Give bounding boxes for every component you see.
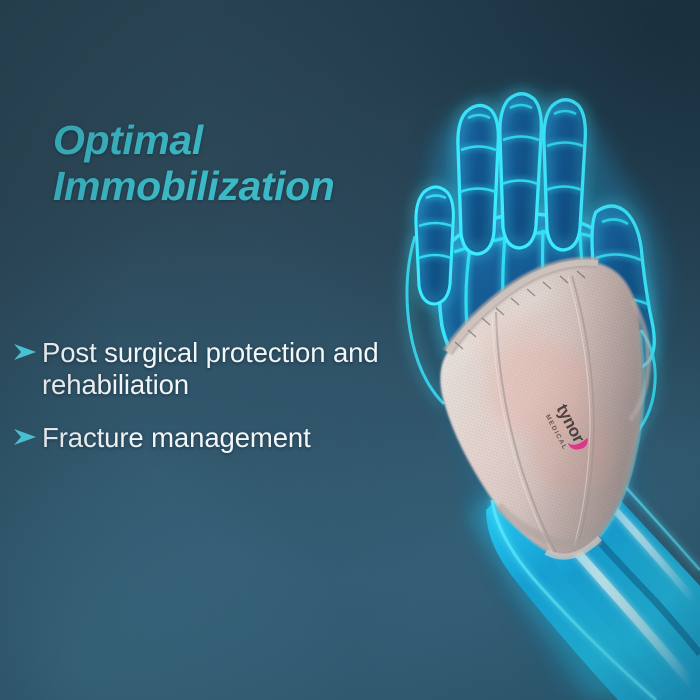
list-item-label: Fracture management (42, 422, 462, 454)
list-item-label: Post surgical protection and rehabiliati… (42, 337, 462, 401)
thumb-base-hotspot (596, 352, 648, 404)
finger-ring (544, 100, 585, 250)
page-title: Optimal Immobilization (53, 118, 443, 210)
list-item: Fracture management (12, 422, 462, 454)
wrist-brace: tynor MEDICAL (440, 262, 648, 556)
benefits-list: Post surgical protection and rehabiliati… (12, 337, 462, 476)
arrow-bullet-icon (12, 422, 42, 446)
svg-text:MEDICAL: MEDICAL (544, 414, 569, 452)
svg-text:tynor: tynor (552, 401, 588, 446)
forearm-bones (470, 455, 700, 700)
metacarpals (439, 214, 645, 401)
slide-canvas: tynor MEDICAL Optimal Immobilization Pos… (0, 0, 700, 700)
brand-logo: tynor MEDICAL (543, 401, 592, 458)
finger-middle (500, 94, 541, 248)
arrow-bullet-icon (12, 337, 42, 361)
headline-line-2: Immobilization (53, 164, 443, 210)
headline-line-1: Optimal (53, 117, 203, 163)
list-item: Post surgical protection and rehabiliati… (12, 337, 462, 401)
finger-thumb (592, 206, 655, 446)
finger-index (458, 105, 498, 254)
